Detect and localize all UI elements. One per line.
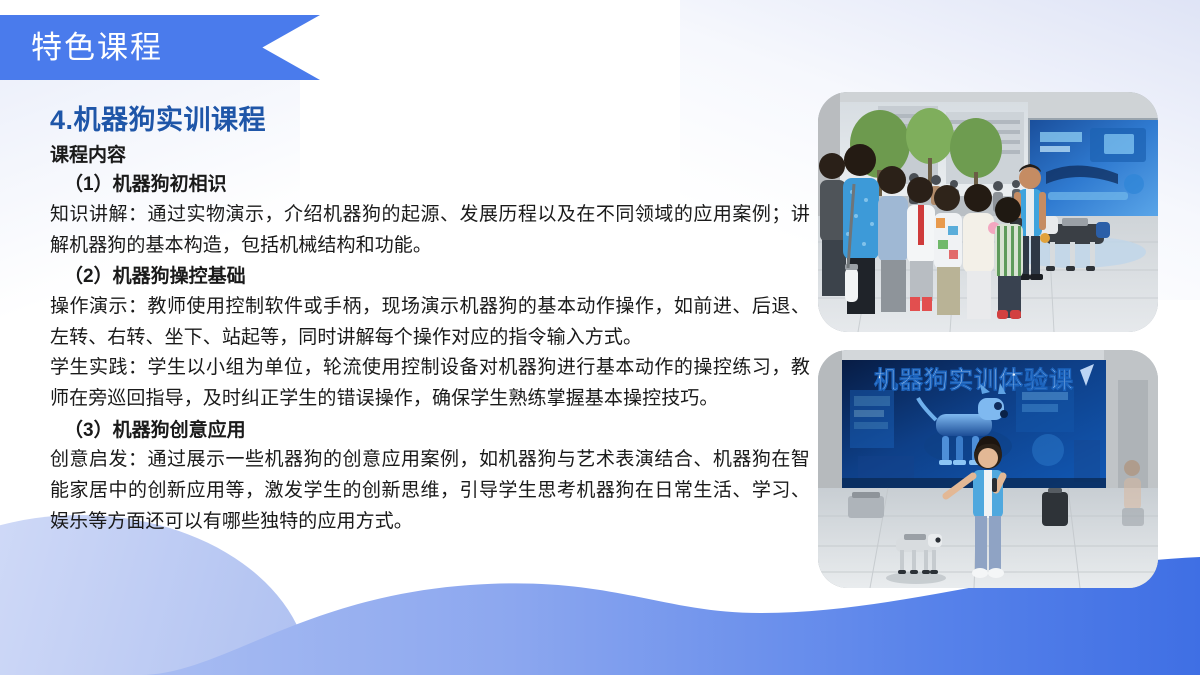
course-item-1: （1）机器狗初相识 知识讲解：通过实物演示，介绍机器狗的起源、发展历程以及在不同… <box>50 171 810 261</box>
course-item-1-paragraph-1: 知识讲解：通过实物演示，介绍机器狗的起源、发展历程以及在不同领域的应用案例；讲解… <box>50 200 810 262</box>
course-item-1-title: （1）机器狗初相识 <box>50 171 810 200</box>
page-title: 特色课程 <box>31 32 163 63</box>
decorative-blob-bottom-left <box>0 515 310 675</box>
course-item-2-paragraph-1: 操作演示：教师使用控制软件或手柄，现场演示机器狗的基本动作操作，如前进、后退、左… <box>50 292 810 354</box>
course-item-3: （3）机器狗创意应用 创意启发：通过展示一些机器狗的创意应用案例，如机器狗与艺术… <box>50 417 810 538</box>
header-ribbon: 特色课程 <box>0 15 320 80</box>
course-item-2: （2）机器狗操控基础 操作演示：教师使用控制软件或手柄，现场演示机器狗的基本动作… <box>50 263 810 415</box>
course-item-3-paragraph-1: 创意启发：通过展示一些机器狗的创意应用案例，如机器狗与艺术表演结合、机器狗在智能… <box>50 445 810 537</box>
section-title: 4.机器狗实训课程 <box>50 104 810 138</box>
led-screen-title: 机器狗实训体验课 <box>874 366 1074 394</box>
content-column: 4.机器狗实训课程 课程内容 （1）机器狗初相识 知识讲解：通过实物演示，介绍机… <box>50 104 810 538</box>
robot-dog-class-photo: 机器狗实训体验课 <box>818 350 1158 588</box>
course-item-2-paragraph-2: 学生实践：学生以小组为单位，轮流使用控制设备对机器狗进行基本动作的操控练习，教师… <box>50 353 810 415</box>
subsection-title: 课程内容 <box>50 142 810 170</box>
course-item-3-title: （3）机器狗创意应用 <box>50 417 810 446</box>
robot-dog-demo-photo <box>818 92 1158 332</box>
course-item-2-title: （2）机器狗操控基础 <box>50 263 810 292</box>
slide-root: 特色课程 4.机器狗实训课程 课程内容 （1）机器狗初相识 知识讲解：通过实物演… <box>0 0 1200 675</box>
